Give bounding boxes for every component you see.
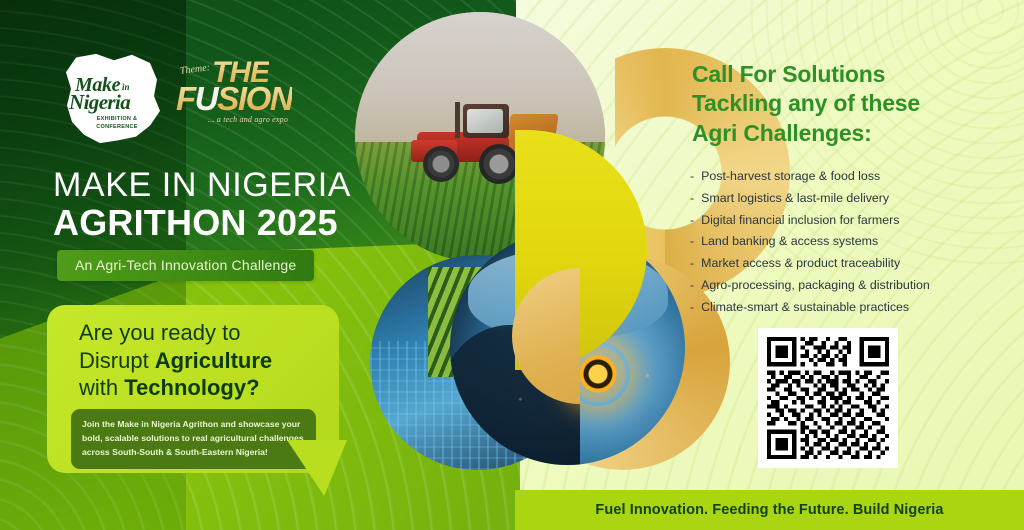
- qr-code-container[interactable]: [758, 328, 898, 468]
- bubble-line2-plain: Disrupt: [79, 348, 155, 373]
- logo-nigeria-text: Nigeria: [69, 90, 130, 115]
- list-item-label: Climate-smart & sustainable practices: [701, 301, 909, 313]
- bullet-marker: -: [690, 257, 694, 269]
- bubble-question: Are you ready to Disrupt Agriculture wit…: [79, 319, 329, 402]
- fusion-theme-logo: Theme: THE FUSION ... a tech and agro ex…: [174, 52, 314, 132]
- fusion-letters-rest: SION: [217, 80, 292, 117]
- status-badge: An Agri-Tech Innovation Challenge: [57, 250, 314, 281]
- fusion-letter-f: F: [176, 80, 195, 117]
- tractor-front-wheel: [423, 146, 459, 182]
- theme-label: Theme:: [179, 62, 210, 77]
- tractor-windscreen: [467, 109, 503, 133]
- call-for-solutions-heading: Call For Solutions Tackling any of these…: [692, 60, 992, 148]
- list-item-label: Agro-processing, packaging & distributio…: [701, 279, 930, 291]
- page-title-line1: MAKE IN NIGERIA: [53, 168, 351, 202]
- list-item: -Climate-smart & sustainable practices: [690, 301, 990, 313]
- tractor-exhaust: [455, 102, 460, 138]
- bubble-line3-plain: with: [79, 375, 124, 400]
- bullet-marker: -: [690, 192, 694, 204]
- bullet-marker: -: [690, 279, 694, 291]
- list-item: -Agro-processing, packaging & distributi…: [690, 279, 990, 291]
- qr-code-icon[interactable]: [767, 337, 889, 459]
- theme-fusion-text: FUSION: [176, 80, 292, 118]
- list-item-label: Land banking & access systems: [701, 235, 878, 247]
- challenges-list: -Post-harvest storage & food loss -Smart…: [690, 170, 990, 323]
- figure-eight-collage: [330, 0, 730, 530]
- bubble-line1: Are you ready to: [79, 320, 240, 345]
- bubble-note-box: Join the Make in Nigeria Agrithon and sh…: [71, 409, 316, 469]
- poster-canvas: Make in Nigeria EXHIBITION & CONFERENCE …: [0, 0, 1024, 530]
- footer-tagline: Fuel Innovation. Feeding the Future. Bui…: [515, 490, 1024, 530]
- list-item-label: Smart logistics & last-mile delivery: [701, 192, 889, 204]
- page-title-line2: AGRITHON 2025: [53, 205, 338, 241]
- list-item: -Land banking & access systems: [690, 235, 990, 247]
- bullet-marker: -: [690, 170, 694, 182]
- fusion-letter-u: U: [195, 80, 217, 117]
- call-heading-line2: Tackling any of these: [692, 90, 920, 116]
- list-item: -Digital financial inclusion for farmers: [690, 214, 990, 226]
- logo-subtitle-text: EXHIBITION & CONFERENCE: [82, 116, 152, 132]
- bullet-marker: -: [690, 214, 694, 226]
- call-heading-line3: Agri Challenges:: [692, 120, 872, 146]
- bubble-line2-bold: Agriculture: [155, 348, 272, 373]
- list-item: -Smart logistics & last-mile delivery: [690, 192, 990, 204]
- list-item-label: Market access & product traceability: [701, 257, 900, 269]
- tractor-rear-wheel: [479, 144, 519, 184]
- make-in-nigeria-logo: Make in Nigeria EXHIBITION & CONFERENCE: [62, 52, 162, 144]
- footer-bar: Fuel Innovation. Feeding the Future. Bui…: [515, 490, 1024, 530]
- call-heading-line1: Call For Solutions: [692, 61, 885, 87]
- brand-lockup: Make in Nigeria EXHIBITION & CONFERENCE …: [62, 52, 314, 144]
- list-item: -Post-harvest storage & food loss: [690, 170, 990, 182]
- theme-tagline: ... a tech and agro expo: [208, 115, 288, 124]
- list-item: -Market access & product traceability: [690, 257, 990, 269]
- bubble-line3-bold: Technology?: [124, 375, 259, 400]
- bullet-marker: -: [690, 235, 694, 247]
- list-item-label: Post-harvest storage & food loss: [701, 170, 880, 182]
- list-item-label: Digital financial inclusion for farmers: [701, 214, 899, 226]
- bullet-marker: -: [690, 301, 694, 313]
